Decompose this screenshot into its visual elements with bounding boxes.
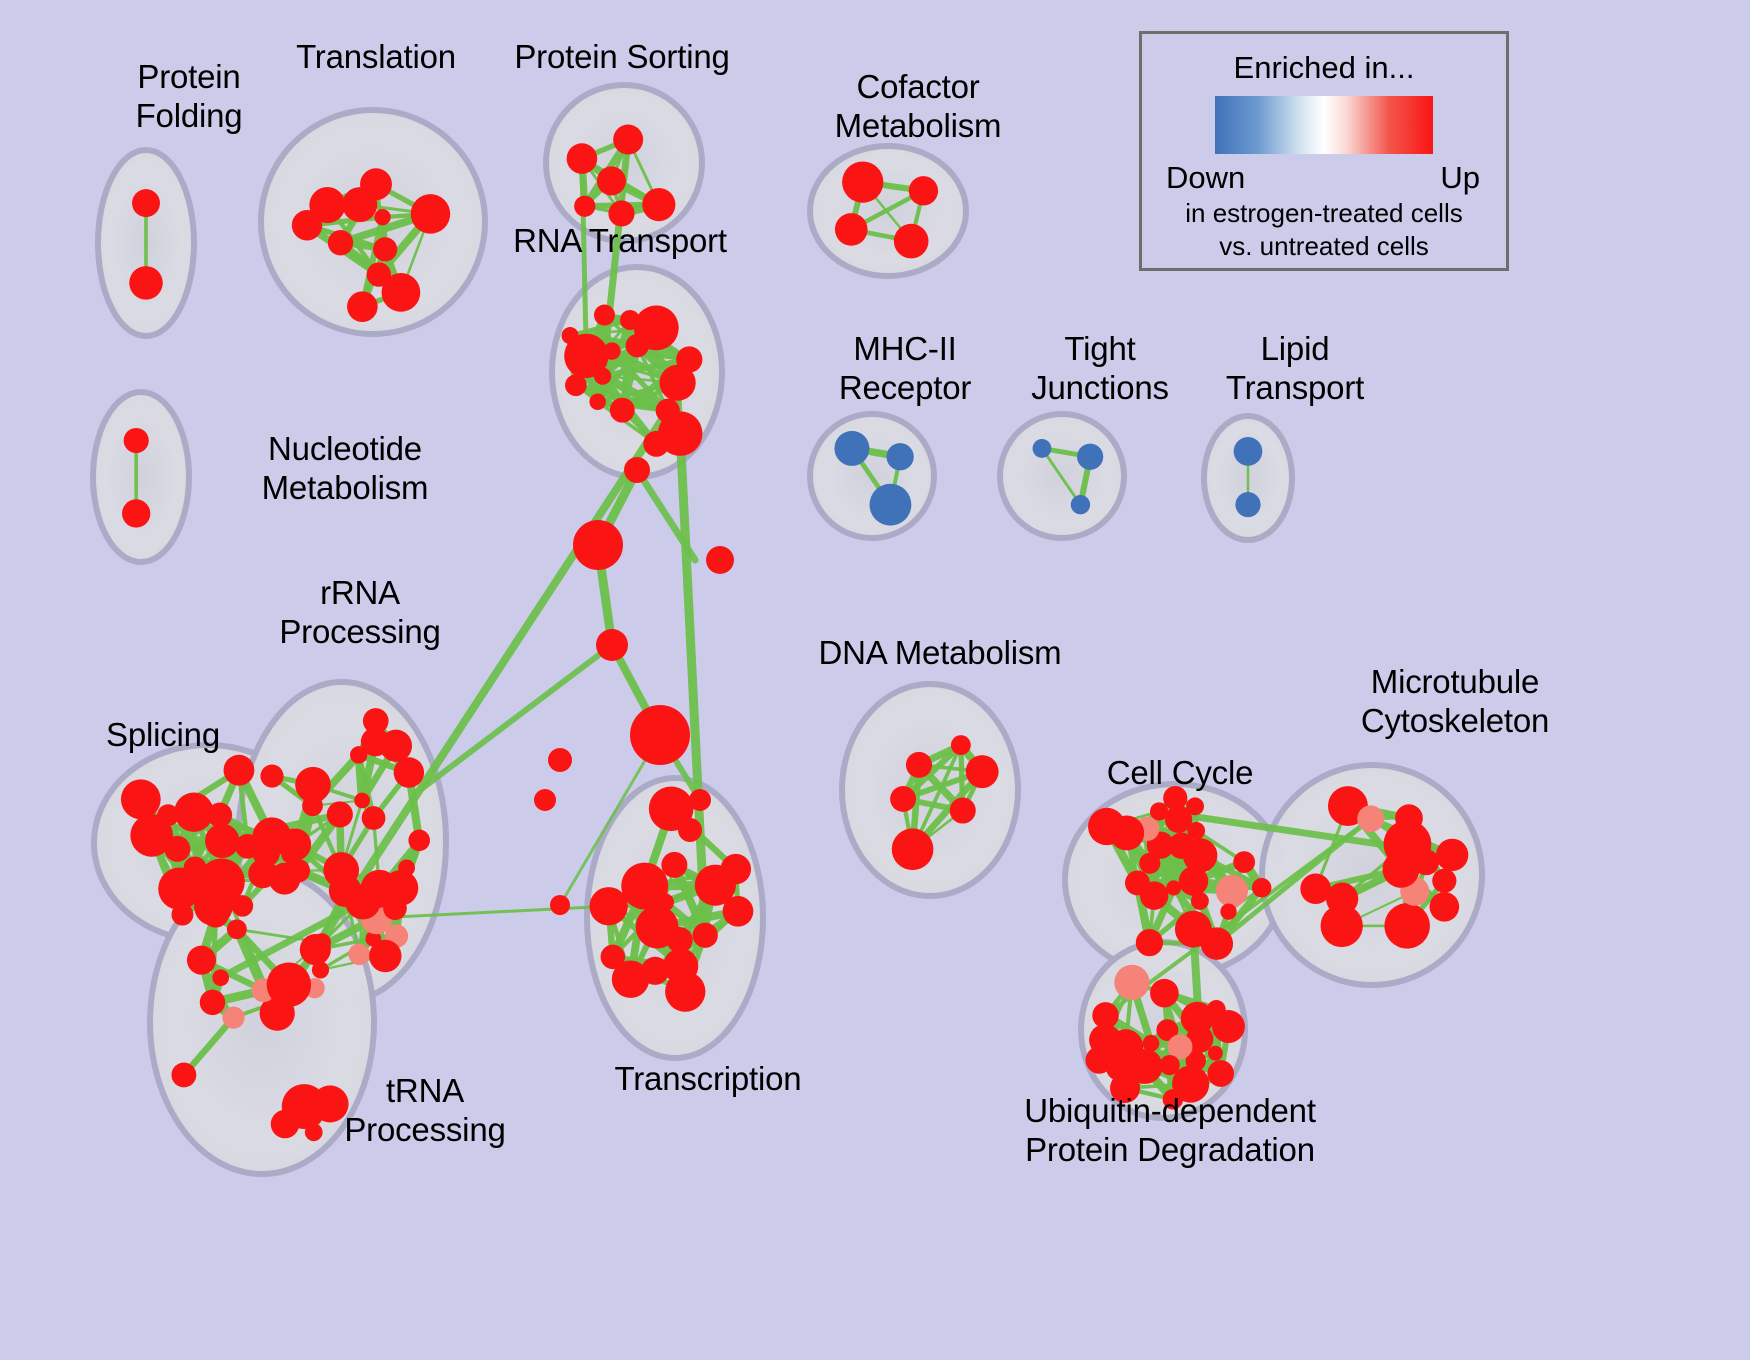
network-node[interactable]	[1088, 808, 1125, 845]
network-node[interactable]	[626, 334, 649, 357]
network-node[interactable]	[636, 906, 679, 949]
network-node[interactable]	[187, 946, 216, 975]
network-node[interactable]	[590, 887, 628, 925]
network-node[interactable]	[323, 852, 359, 888]
network-node[interactable]	[660, 365, 696, 401]
cluster-label-microtubule-cytoskeleton: Microtubule Cytoskeleton	[1285, 663, 1625, 741]
network-node[interactable]	[1191, 892, 1209, 910]
network-node[interactable]	[164, 836, 190, 862]
network-node[interactable]	[950, 797, 976, 823]
network-node[interactable]	[1357, 805, 1384, 832]
network-node[interactable]	[870, 484, 912, 526]
network-node[interactable]	[1125, 870, 1150, 895]
network-node[interactable]	[124, 428, 149, 453]
network-node[interactable]	[1077, 444, 1103, 470]
network-node[interactable]	[347, 291, 378, 322]
network-node[interactable]	[562, 327, 579, 344]
network-node[interactable]	[198, 858, 244, 904]
network-node[interactable]	[328, 230, 353, 255]
network-node[interactable]	[661, 852, 687, 878]
network-node[interactable]	[894, 224, 929, 259]
network-node[interactable]	[1212, 1010, 1245, 1043]
network-node[interactable]	[200, 990, 225, 1015]
network-node[interactable]	[1166, 880, 1181, 895]
network-node[interactable]	[132, 189, 160, 217]
cluster-label-cofactor-metabolism: Cofactor Metabolism	[768, 68, 1068, 146]
network-node[interactable]	[594, 305, 615, 326]
network-edge	[420, 645, 612, 790]
network-node[interactable]	[1168, 833, 1194, 859]
network-node[interactable]	[1136, 929, 1163, 956]
network-node[interactable]	[890, 786, 916, 812]
network-node[interactable]	[621, 863, 668, 910]
network-node[interactable]	[596, 629, 628, 661]
network-node[interactable]	[1181, 1002, 1214, 1035]
network-node[interactable]	[260, 765, 283, 788]
network-node[interactable]	[411, 194, 450, 233]
cluster-label-trna-processing: tRNA Processing	[300, 1072, 550, 1150]
network-node[interactable]	[279, 828, 311, 860]
network-node[interactable]	[1233, 851, 1255, 873]
network-node[interactable]	[292, 210, 322, 240]
network-node[interactable]	[693, 923, 718, 948]
network-node[interactable]	[224, 755, 255, 786]
cluster-label-dna-metabolism: DNA Metabolism	[760, 634, 1120, 673]
network-node[interactable]	[1186, 797, 1204, 815]
network-node[interactable]	[589, 393, 606, 410]
cluster-label-protein-sorting: Protein Sorting	[452, 38, 792, 77]
network-node[interactable]	[620, 310, 640, 330]
network-node[interactable]	[1432, 869, 1456, 893]
network-node[interactable]	[834, 431, 869, 466]
cluster-label-rrna-processing: rRNA Processing	[235, 574, 485, 652]
network-node[interactable]	[534, 789, 556, 811]
network-node[interactable]	[327, 801, 353, 827]
network-node[interactable]	[1382, 851, 1419, 888]
network-node[interactable]	[286, 859, 310, 883]
network-node[interactable]	[548, 748, 572, 772]
network-node[interactable]	[951, 735, 971, 755]
network-node[interactable]	[642, 188, 675, 221]
network-node[interactable]	[678, 818, 702, 842]
network-node[interactable]	[892, 828, 934, 870]
network-node[interactable]	[1071, 495, 1090, 514]
network-node[interactable]	[408, 830, 430, 852]
network-node[interactable]	[295, 767, 331, 803]
network-node[interactable]	[342, 187, 377, 222]
network-node[interactable]	[345, 884, 380, 919]
network-node[interactable]	[1384, 903, 1429, 948]
network-node[interactable]	[610, 398, 635, 423]
network-node[interactable]	[1326, 883, 1358, 915]
enrichment-map-figure: Protein FoldingTranslationProtein Sortin…	[0, 0, 1750, 1360]
network-node[interactable]	[354, 793, 370, 809]
network-node[interactable]	[663, 948, 698, 983]
network-node[interactable]	[550, 895, 570, 915]
network-node[interactable]	[212, 969, 229, 986]
legend-caption-line1: in estrogen-treated cells	[1142, 198, 1506, 229]
network-node[interactable]	[1252, 878, 1272, 898]
legend-color-gradient	[1215, 96, 1433, 154]
network-node[interactable]	[312, 961, 329, 978]
cluster-label-nucleotide-metabolism: Nucleotide Metabolism	[190, 430, 500, 508]
network-node[interactable]	[842, 161, 883, 202]
network-node[interactable]	[362, 806, 386, 830]
network-node[interactable]	[1207, 1060, 1234, 1087]
network-node[interactable]	[1114, 965, 1149, 1000]
network-node[interactable]	[121, 779, 161, 819]
cluster-label-rna-transport: RNA Transport	[450, 222, 790, 261]
network-node[interactable]	[252, 839, 279, 866]
network-node[interactable]	[597, 166, 626, 195]
network-node[interactable]	[966, 755, 999, 788]
network-node[interactable]	[122, 499, 150, 527]
network-node[interactable]	[1436, 839, 1468, 871]
network-node[interactable]	[1395, 804, 1423, 832]
network-node[interactable]	[1430, 892, 1460, 922]
legend-title: Enriched in...	[1142, 50, 1506, 86]
network-node[interactable]	[374, 209, 390, 225]
legend-down-label: Down	[1166, 160, 1245, 196]
network-node[interactable]	[706, 546, 734, 574]
legend-end-labels: Down Up	[1142, 154, 1506, 196]
network-node[interactable]	[613, 125, 643, 155]
network-node[interactable]	[174, 792, 213, 831]
network-node[interactable]	[1235, 492, 1260, 517]
network-node[interactable]	[271, 1110, 300, 1139]
network-node[interactable]	[723, 896, 754, 927]
legend-box: Enriched in... Down Up in estrogen-treat…	[1139, 31, 1509, 271]
network-node[interactable]	[1033, 439, 1052, 458]
network-node[interactable]	[1208, 1046, 1223, 1061]
network-node[interactable]	[643, 431, 669, 457]
network-node[interactable]	[835, 213, 868, 246]
network-node[interactable]	[574, 196, 595, 217]
cluster-label-transcription: Transcription	[558, 1060, 858, 1099]
network-node[interactable]	[369, 940, 401, 972]
network-node[interactable]	[222, 1007, 244, 1029]
network-node[interactable]	[227, 919, 247, 939]
network-node[interactable]	[1143, 1035, 1160, 1052]
network-node[interactable]	[573, 520, 623, 570]
network-node[interactable]	[313, 933, 331, 951]
network-node[interactable]	[171, 904, 193, 926]
network-node[interactable]	[1106, 1055, 1131, 1080]
network-node[interactable]	[1216, 875, 1248, 907]
network-node[interactable]	[267, 962, 311, 1006]
network-node[interactable]	[909, 176, 938, 205]
legend-caption-line2: vs. untreated cells	[1142, 231, 1506, 262]
network-node[interactable]	[906, 752, 932, 778]
cluster-label-ubiquitin-protein-degradation: Ubiquitin-dependent Protein Degradation	[945, 1092, 1395, 1170]
network-node[interactable]	[373, 237, 397, 261]
network-node[interactable]	[1150, 979, 1179, 1008]
network-node[interactable]	[689, 789, 711, 811]
legend-up-label: Up	[1440, 160, 1480, 196]
network-node[interactable]	[630, 705, 690, 765]
network-node[interactable]	[1201, 927, 1233, 959]
network-node[interactable]	[171, 1062, 196, 1087]
network-node[interactable]	[1179, 866, 1208, 895]
cluster-label-cell-cycle: Cell Cycle	[1040, 754, 1320, 793]
network-node[interactable]	[887, 443, 914, 470]
network-node[interactable]	[205, 824, 239, 858]
cluster-label-splicing: Splicing	[48, 716, 278, 755]
network-node[interactable]	[157, 804, 179, 826]
network-node[interactable]	[394, 757, 424, 787]
network-node[interactable]	[202, 901, 229, 928]
cluster-ellipse-nucleotide-metabolism	[93, 392, 189, 562]
network-node[interactable]	[382, 273, 421, 312]
network-node[interactable]	[361, 727, 390, 756]
network-node[interactable]	[398, 859, 415, 876]
network-node[interactable]	[624, 457, 650, 483]
cluster-label-lipid-transport: Lipid Transport	[1180, 330, 1410, 408]
network-node[interactable]	[1234, 437, 1263, 466]
network-node[interactable]	[348, 944, 370, 966]
network-node[interactable]	[1220, 903, 1236, 919]
network-node[interactable]	[567, 143, 598, 174]
network-node[interactable]	[656, 399, 680, 423]
network-node[interactable]	[383, 896, 407, 920]
network-node[interactable]	[129, 266, 163, 300]
